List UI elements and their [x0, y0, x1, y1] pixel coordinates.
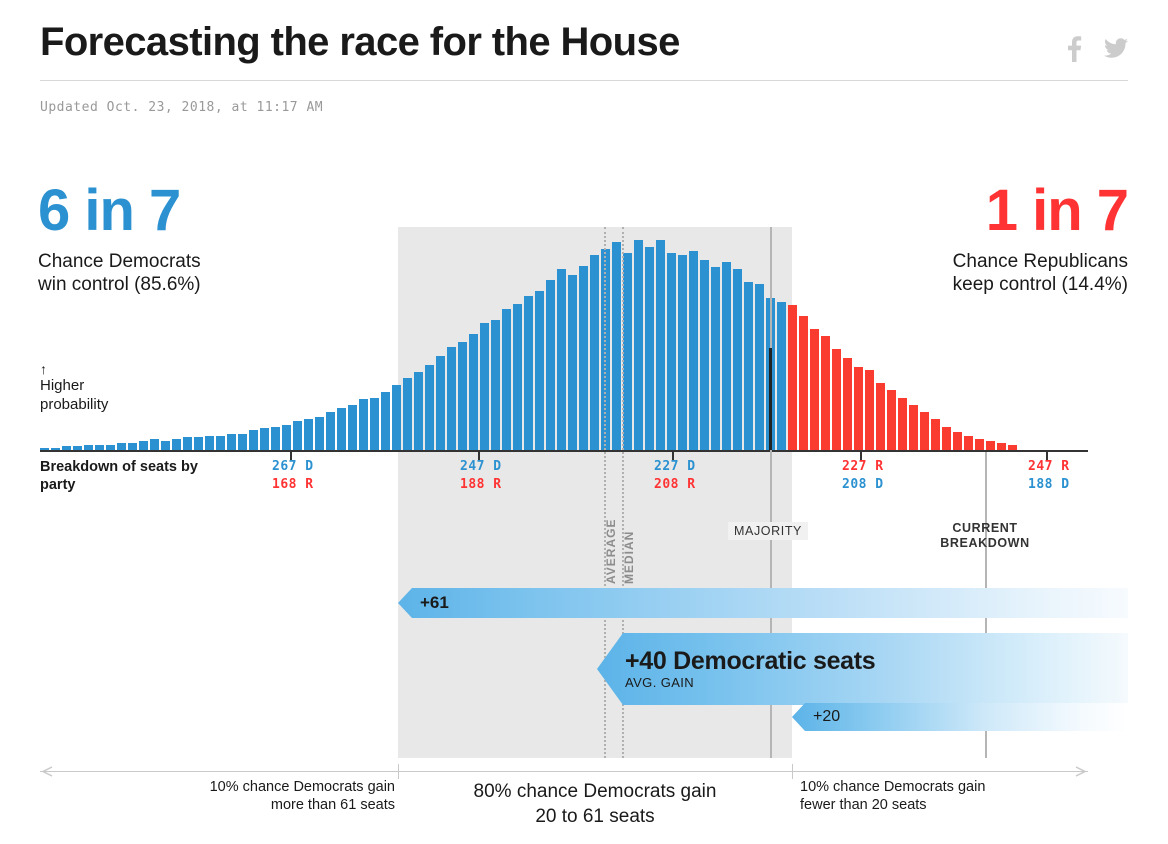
- gain-arrow-20-shape: [792, 703, 1128, 731]
- histogram-bar: [249, 430, 258, 450]
- histogram-bar: [282, 425, 291, 450]
- histogram-bar: [403, 378, 412, 450]
- histogram-bar: [744, 282, 753, 450]
- histogram-bar: [942, 427, 951, 451]
- histogram-bar: [986, 441, 995, 450]
- histogram-bar: [678, 255, 687, 450]
- histogram-bar: [150, 439, 159, 450]
- histogram-bar: [645, 247, 654, 450]
- majority-threshold-marker: [769, 348, 772, 450]
- histogram-bar: [425, 365, 434, 450]
- histogram-bar: [227, 434, 236, 450]
- average-line-label: AVERAGE: [604, 519, 618, 584]
- histogram-bar: [205, 436, 214, 450]
- breakdown-of-seats-label: Breakdown of seats by party: [40, 458, 240, 494]
- histogram-bar: [953, 432, 962, 450]
- caption-right: 10% chance Democrats gain fewer than 20 …: [800, 778, 1130, 814]
- histogram-bar: [612, 242, 621, 450]
- gain-arrow-40: +40 Democratic seats AVG. GAIN: [597, 633, 1128, 705]
- bottom-tick-left: [398, 764, 399, 779]
- gain-arrow-61: +61: [398, 588, 1128, 618]
- axis-tick-label: 247 D188 R: [460, 458, 502, 494]
- histogram-bar: [348, 405, 357, 450]
- axis-tick-label: 267 D168 R: [272, 458, 314, 494]
- histogram-bar: [260, 428, 269, 450]
- forecast-chart: ↑ Higher probability Breakdown of seats …: [0, 0, 1168, 844]
- histogram-bar: [524, 296, 533, 450]
- histogram-bar: [711, 267, 720, 450]
- histogram-bar: [315, 417, 324, 450]
- gain-arrow-20-label: +20: [813, 708, 840, 726]
- header-divider: [40, 80, 1128, 81]
- caption-left: 10% chance Democrats gain more than 61 s…: [60, 778, 395, 814]
- histogram-bar: [161, 441, 170, 450]
- histogram-bar: [513, 304, 522, 450]
- histogram-bar: [722, 262, 731, 450]
- chart-axis-line: [40, 450, 1088, 452]
- gain-arrow-40-label: +40 Democratic seats: [625, 647, 875, 675]
- histogram-bar: [887, 390, 896, 450]
- histogram-bar: [546, 280, 555, 450]
- histogram-bar: [590, 255, 599, 450]
- twitter-icon[interactable]: [1104, 38, 1128, 60]
- up-arrow-icon: ↑: [40, 362, 108, 376]
- histogram-bar: [579, 266, 588, 450]
- histogram-bar: [337, 408, 346, 450]
- histogram-bar: [172, 439, 181, 450]
- histogram-bar: [777, 302, 786, 450]
- histogram-bar: [975, 439, 984, 450]
- majority-line-label: MAJORITY: [728, 522, 808, 540]
- histogram-bar: [568, 275, 577, 450]
- histogram-bar: [920, 412, 929, 450]
- histogram-bar: [667, 253, 676, 450]
- bottom-tick-right: [792, 764, 793, 779]
- social-share-group: [1066, 36, 1128, 62]
- histogram-bar: [656, 240, 665, 450]
- histogram-bar: [634, 240, 643, 450]
- median-line-label: MEDIAN: [622, 531, 636, 584]
- histogram-bar: [865, 370, 874, 450]
- axis-arrow-right-icon: [1074, 764, 1088, 779]
- histogram-bar: [689, 251, 698, 450]
- higher-probability-annotation: ↑ Higher probability: [40, 362, 108, 414]
- gain-arrow-61-shape: [398, 588, 1128, 618]
- histogram-bar: [755, 284, 764, 450]
- histogram-bar: [370, 398, 379, 450]
- histogram-bar: [293, 421, 302, 450]
- histogram-bar: [700, 260, 709, 450]
- histogram-bar: [810, 329, 819, 450]
- histogram-bar: [447, 347, 456, 450]
- axis-tick-label: 227 D208 R: [654, 458, 696, 494]
- gain-arrow-40-sublabel: AVG. GAIN: [625, 675, 875, 691]
- histogram-bar: [359, 399, 368, 450]
- axis-arrow-left-icon: [40, 764, 54, 779]
- page-header: Forecasting the race for the House: [40, 18, 1128, 66]
- histogram-bar: [843, 358, 852, 450]
- histogram-bar: [381, 392, 390, 450]
- histogram-bar: [898, 398, 907, 450]
- histogram-bar: [271, 427, 280, 451]
- histogram-bar: [458, 342, 467, 451]
- seat-distribution-histogram: [40, 228, 1088, 450]
- histogram-bar: [326, 412, 335, 450]
- histogram-bar: [480, 323, 489, 450]
- histogram-bar: [821, 336, 830, 450]
- page-title: Forecasting the race for the House: [40, 18, 1128, 66]
- histogram-bar: [183, 437, 192, 450]
- histogram-bar: [623, 253, 632, 450]
- caption-middle: 80% chance Democrats gain 20 to 61 seats: [400, 779, 790, 829]
- histogram-bar: [139, 441, 148, 450]
- histogram-bar: [854, 367, 863, 450]
- axis-tick-label: 227 R208 D: [842, 458, 884, 494]
- histogram-bar: [997, 443, 1006, 450]
- histogram-bar: [502, 309, 511, 450]
- histogram-bar: [238, 434, 247, 450]
- histogram-bar: [799, 316, 808, 450]
- histogram-bar: [832, 349, 841, 450]
- gain-arrow-20: +20: [792, 703, 1128, 731]
- facebook-icon[interactable]: [1066, 36, 1082, 62]
- histogram-bar: [436, 356, 445, 450]
- histogram-bar: [194, 437, 203, 450]
- histogram-bar: [876, 383, 885, 450]
- histogram-bar: [733, 269, 742, 450]
- updated-timestamp: Updated Oct. 23, 2018, at 11:17 AM: [40, 100, 323, 115]
- gain-arrow-61-label: +61: [420, 593, 449, 613]
- histogram-bar: [557, 269, 566, 450]
- higher-probability-text: Higher probability: [40, 377, 108, 413]
- histogram-bar: [128, 443, 137, 450]
- histogram-bar: [304, 419, 313, 450]
- histogram-bar: [535, 291, 544, 450]
- histogram-bar: [491, 320, 500, 450]
- current-breakdown-label: CURRENT BREAKDOWN: [905, 521, 1065, 551]
- histogram-bar: [788, 305, 797, 450]
- axis-tick-label: 247 R188 D: [1028, 458, 1070, 494]
- histogram-bar: [469, 334, 478, 450]
- histogram-bar: [216, 436, 225, 450]
- bottom-range-axis: [40, 771, 1088, 772]
- histogram-bar: [909, 405, 918, 450]
- histogram-bar: [931, 419, 940, 450]
- histogram-bar: [392, 385, 401, 450]
- histogram-bar: [414, 372, 423, 450]
- histogram-bar: [117, 443, 126, 450]
- histogram-bar: [964, 436, 973, 450]
